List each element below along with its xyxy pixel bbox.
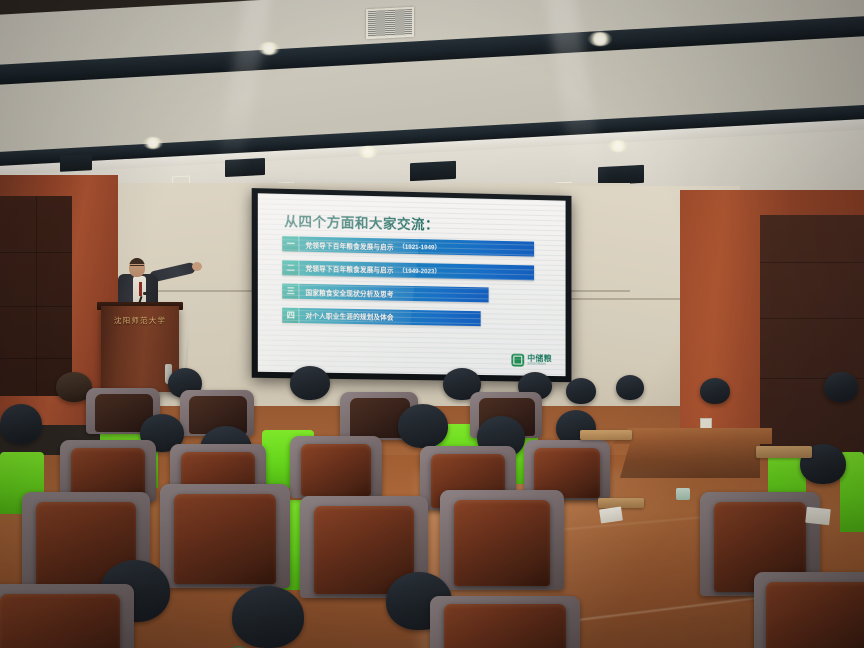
wall-switch-plate[interactable] — [700, 418, 712, 429]
speaker-glasses — [130, 265, 144, 269]
seat-back — [174, 494, 276, 584]
lecture-hall-photo: 从四个方面和大家交流： 一 党领导下百年粮食发展与启示 （1921-1949） … — [0, 0, 864, 648]
agenda-text-2: 党领导下百年粮食发展与启示 — [299, 263, 393, 275]
agenda-text-4: 对个人职业生涯的规划及体会 — [299, 310, 393, 322]
right-panel-line-1 — [760, 262, 864, 263]
seat-back — [454, 500, 550, 586]
audience-head — [398, 404, 448, 448]
audience-head — [824, 372, 858, 402]
ceiling-vent-left — [366, 7, 414, 40]
ceiling-downlight-3 — [143, 137, 163, 149]
audience-head — [616, 375, 644, 400]
agenda-badge-2: 二 — [282, 260, 299, 275]
seat-writing-desk — [756, 446, 812, 458]
agenda-years-2: （1949-2023） — [394, 265, 441, 275]
seat-back — [766, 582, 864, 648]
slide-corner-logo: 中储粮 SINOGRAIN — [511, 354, 551, 368]
projection-screen-frame: 从四个方面和大家交流： 一 党领导下百年粮食发展与启示 （1921-1949） … — [252, 188, 572, 382]
sinograin-logo-text: 中储粮 SINOGRAIN — [527, 355, 552, 366]
slide-agenda-list: 一 党领导下百年粮食发展与启示 （1921-1949） 二 党领导下百年粮食发展… — [282, 236, 534, 335]
podium-institution-name: 沈阳师范大学 — [106, 315, 174, 326]
seat-back — [0, 594, 120, 648]
ceiling-downlight-2 — [588, 32, 612, 46]
sinograin-logo-icon — [511, 354, 524, 367]
microphone-head — [143, 292, 152, 295]
agenda-text-1: 党领导下百年粮食发展与启示 — [299, 239, 393, 251]
slide-title: 从四个方面和大家交流： — [284, 210, 439, 234]
seat-back — [301, 444, 371, 496]
ceiling-downlight-4 — [358, 146, 378, 158]
agenda-badge-3: 三 — [282, 283, 299, 298]
agenda-badge-4: 四 — [282, 307, 299, 322]
desk-cup — [676, 488, 690, 500]
ceiling-soffit-1 — [60, 154, 92, 172]
ceiling-soffit-3 — [410, 161, 456, 181]
right-wall-dark-panel — [760, 215, 864, 455]
desk-paper — [805, 507, 831, 525]
ceiling-downlight-1 — [258, 42, 280, 55]
agenda-text-3: 国家粮食安全现状分析及思考 — [299, 286, 393, 298]
agenda-badge-1: 一 — [282, 236, 299, 251]
seat-back — [444, 604, 566, 648]
audience-head — [566, 378, 596, 404]
sinograin-logo-inner-shape — [513, 356, 522, 365]
seat-writing-desk — [580, 430, 632, 440]
audience-head — [290, 366, 330, 400]
speaker-tie — [139, 282, 142, 296]
agenda-years-1: （1921-1949） — [394, 242, 441, 252]
audience-head — [0, 404, 42, 444]
projection-screen: 从四个方面和大家交流： 一 党领导下百年粮食发展与启示 （1921-1949） … — [258, 193, 566, 376]
ceiling-downlight-5 — [608, 140, 628, 152]
ceiling-soffit-2 — [225, 158, 265, 177]
agenda-item-3: 三 国家粮食安全现状分析及思考 — [282, 283, 488, 302]
speaker-hand — [192, 262, 202, 271]
agenda-item-2: 二 党领导下百年粮食发展与启示 （1949-2023） — [282, 260, 534, 280]
agenda-item-1: 一 党领导下百年粮食发展与启示 （1921-1949） — [282, 236, 534, 256]
audience-head — [232, 586, 304, 648]
agenda-item-4: 四 对个人职业生涯的规划及体会 — [282, 307, 481, 326]
left-door-line-vert — [36, 196, 37, 396]
right-panel-line-2 — [760, 318, 864, 319]
logo-text-en: SINOGRAIN — [527, 363, 552, 367]
audience-head — [700, 378, 730, 404]
